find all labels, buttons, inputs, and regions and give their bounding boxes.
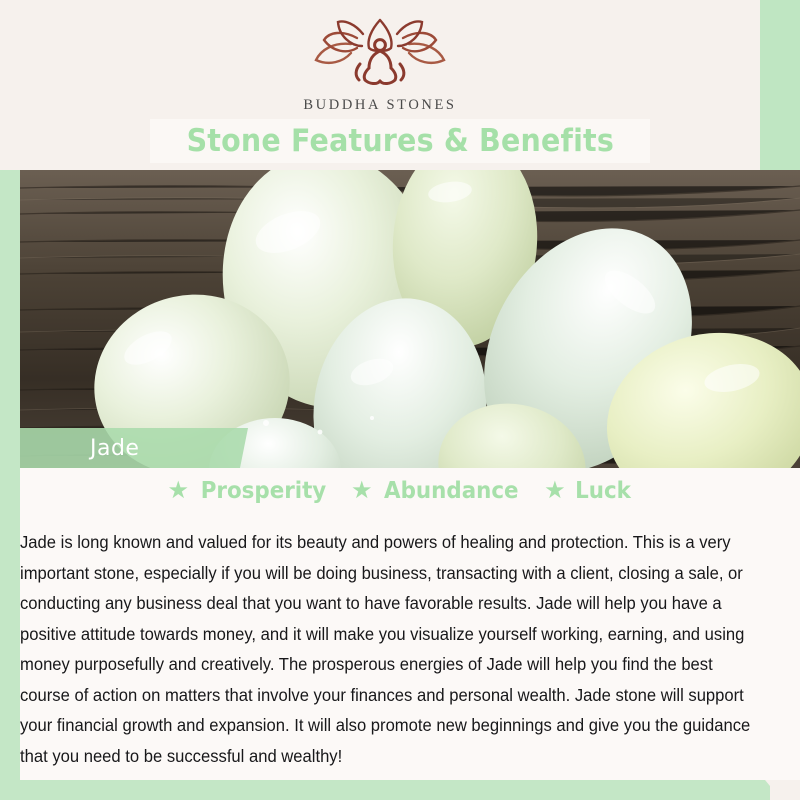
stone-description: Jade is long known and valued for its be…	[20, 527, 753, 771]
stone-info-card: BUDDHA STONES Stone Features & Benefits	[0, 0, 800, 800]
lotus-meditation-icon	[305, 18, 455, 95]
benefit-label: Luck	[575, 478, 631, 504]
star-icon: ★	[351, 479, 373, 503]
benefit-item: ★ Abundance	[351, 478, 524, 504]
star-icon: ★	[167, 479, 189, 503]
stone-photo	[20, 170, 800, 468]
benefit-label: Abundance	[385, 478, 519, 504]
brand-logo: BUDDHA STONES	[0, 18, 760, 114]
benefit-item: ★ Prosperity	[167, 478, 330, 504]
benefit-item: ★ Luck	[544, 478, 632, 504]
stone-name-band: Jade	[20, 428, 248, 468]
stone-name-label: Jade	[90, 436, 139, 461]
star-icon: ★	[544, 479, 566, 503]
benefits-row: ★ Prosperity ★ Abundance ★ Luck	[0, 478, 800, 504]
page-title: Stone Features & Benefits	[186, 123, 613, 159]
benefit-label: Prosperity	[201, 478, 327, 504]
brand-name: BUDDHA STONES	[303, 97, 456, 114]
title-band: Stone Features & Benefits	[150, 119, 650, 163]
